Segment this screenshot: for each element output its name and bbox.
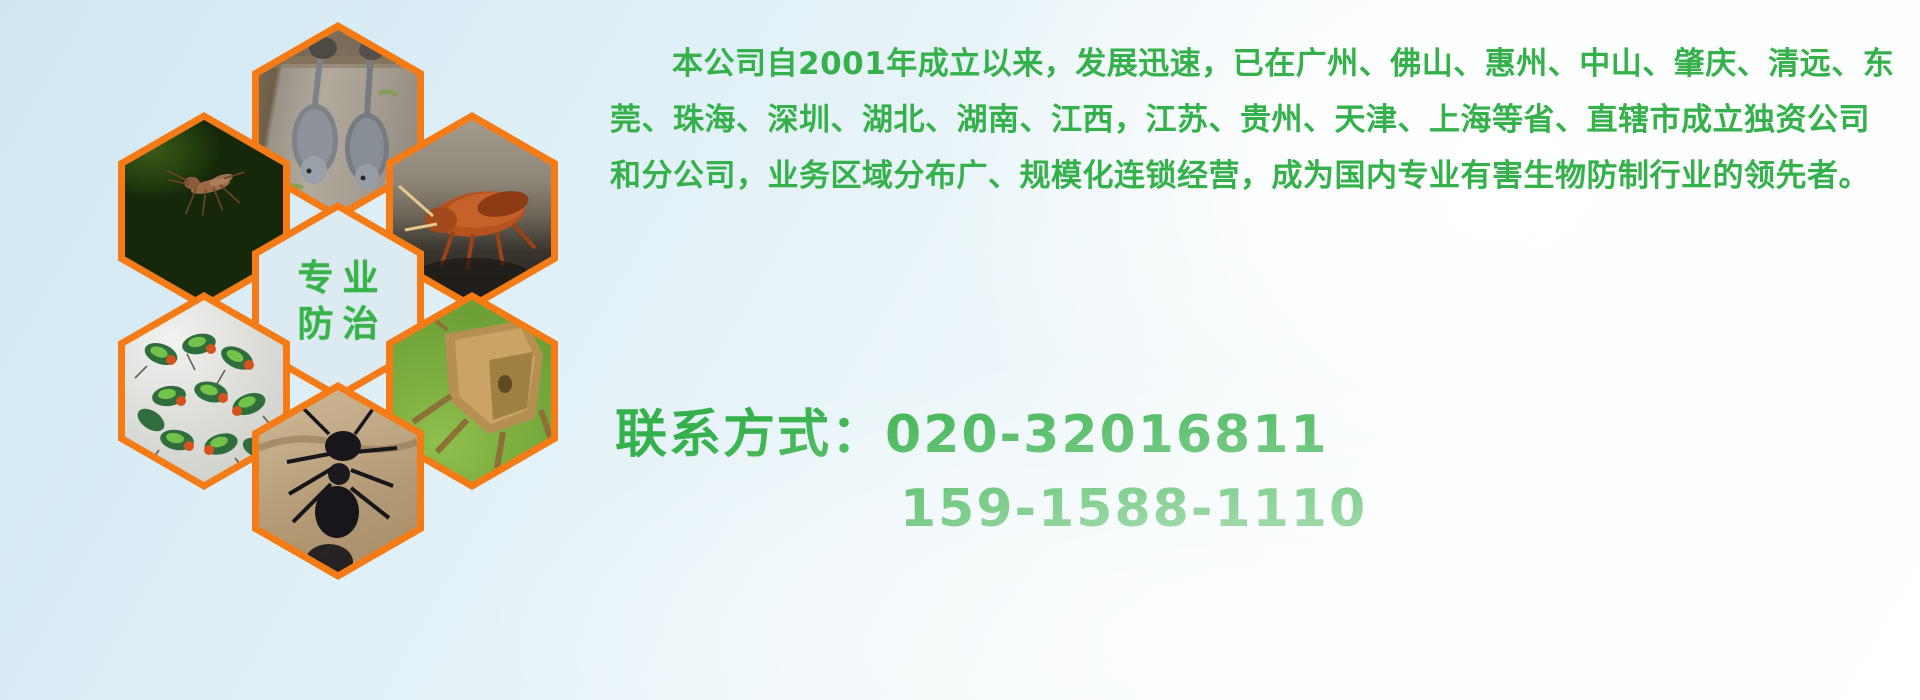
ant-illustration [259,390,417,572]
mosquito-illustration [159,166,251,220]
hexagon-photo-cluster: 专业 防治 [0,0,600,620]
contact-primary-line: 联系方式：020-32016811 [615,398,1915,472]
ant-photo [259,390,417,572]
logo-slogan-line1: 专业 [288,260,387,296]
contact-phone-secondary[interactable]: 159-1588-1110 [900,479,1367,539]
company-description-text: 本公司自2001年成立以来，发展迅速，已在广州、佛山、惠州、中山、肇庆、清远、东… [610,36,1900,204]
hex-inner-ant [259,390,417,572]
contact-block: 联系方式：020-32016811 159-1588-1110 [615,398,1915,546]
contact-label: 联系方式： [615,405,885,465]
logo-slogan-line2: 防治 [288,306,387,342]
promotional-banner: 专业 防治 [0,0,1920,700]
company-description: 本公司自2001年成立以来，发展迅速，已在广州、佛山、惠州、中山、肇庆、清远、东… [610,36,1900,204]
contact-secondary-line: 159-1588-1110 [615,472,1915,546]
contact-phone-primary[interactable]: 020-32016811 [885,405,1329,465]
